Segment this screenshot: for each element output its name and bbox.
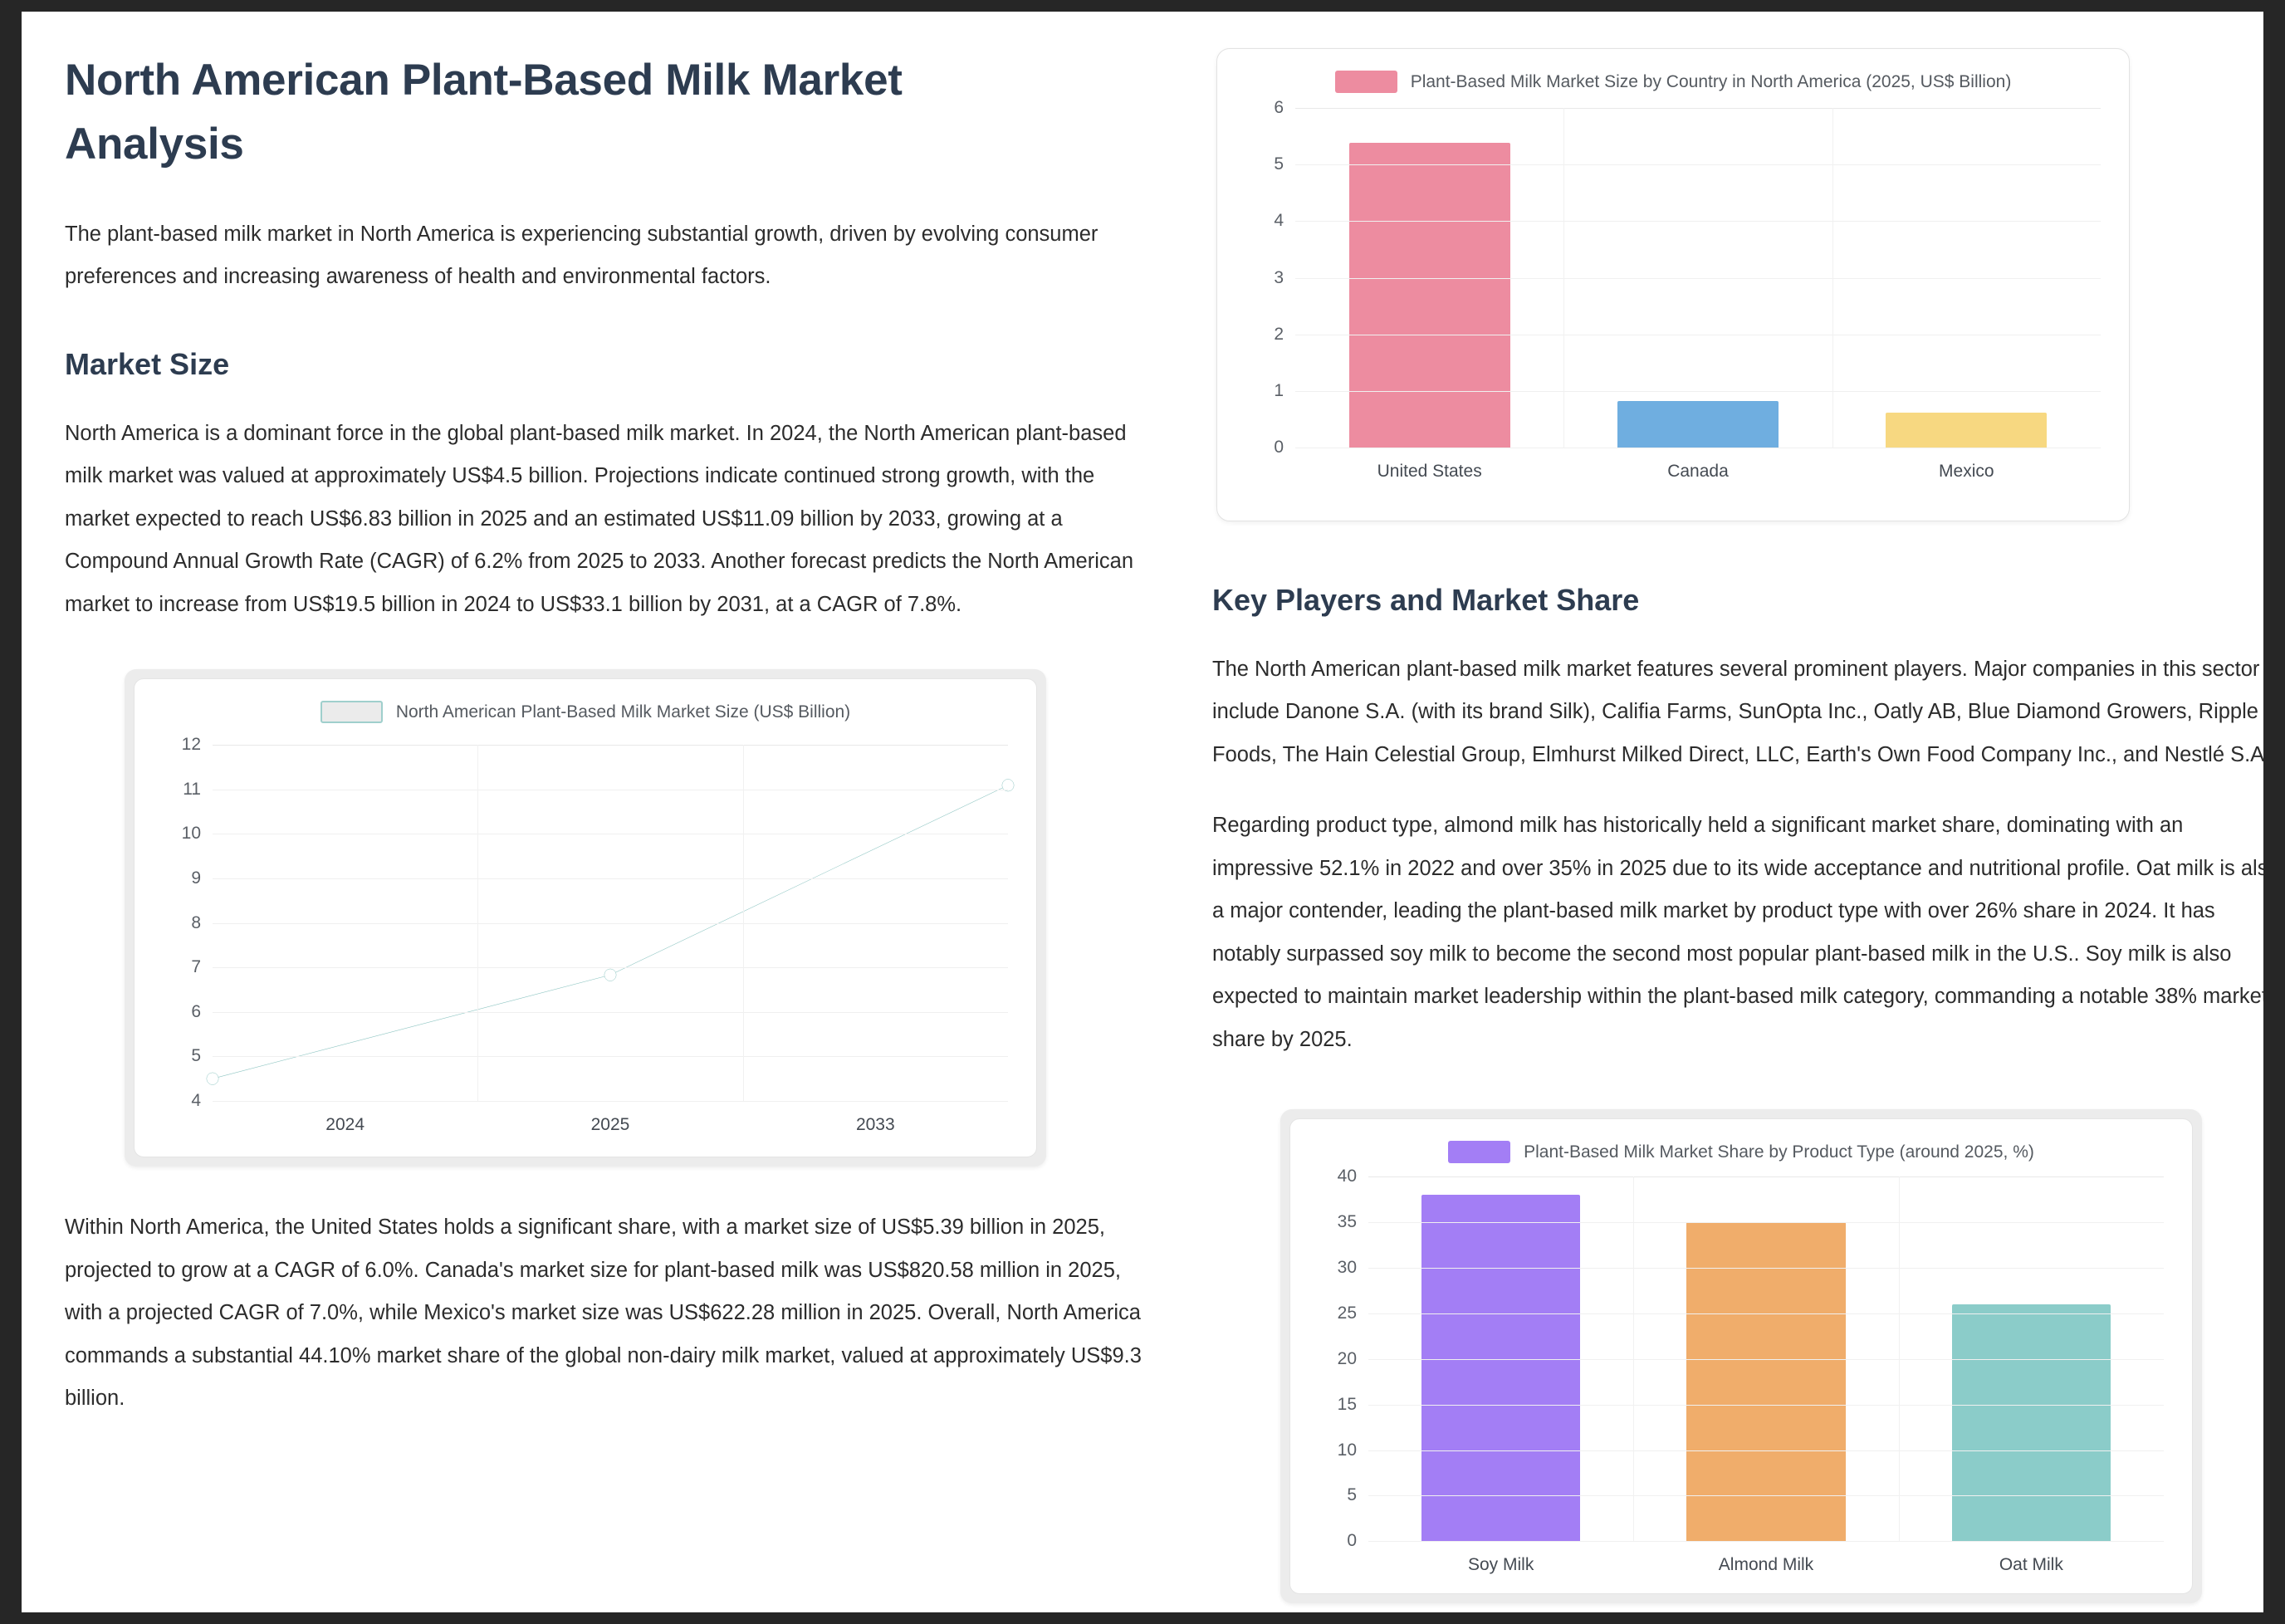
page-title: North American Plant-Based Milk Market A… [65, 48, 995, 177]
y-axis-tick-label: 4 [1274, 211, 1284, 231]
gridline [213, 1056, 1008, 1057]
product-chart-x-axis-labels: Soy MilkAlmond MilkOat Milk [1368, 1542, 2164, 1575]
category-separator [743, 745, 744, 1101]
product-chart-plot-area: 0510152025303540 [1368, 1176, 2164, 1542]
category-separator [1832, 108, 1833, 448]
document-page: North American Plant-Based Milk Market A… [22, 12, 2263, 1612]
country-bar-chart-card: Plant-Based Milk Market Size by Country … [1216, 48, 2130, 521]
y-axis-tick-label: 4 [191, 1091, 201, 1111]
section-heading-market-size: Market Size [65, 345, 1161, 384]
y-axis-tick-label: 3 [1274, 268, 1284, 288]
y-axis-tick-label: 40 [1338, 1167, 1357, 1186]
line-data-point-2025[interactable] [604, 969, 616, 981]
y-axis-tick-label: 12 [182, 735, 201, 755]
market-size-paragraph-1: North America is a dominant force in the… [65, 413, 1161, 627]
key-players-paragraph-2: Regarding product type, almond milk has … [1212, 805, 2263, 1061]
gridline [213, 967, 1008, 968]
x-axis-tick-label: 2025 [477, 1115, 742, 1135]
gridline [1368, 1268, 2164, 1269]
x-axis-tick-label: United States [1295, 462, 1563, 482]
country-chart-legend-swatch [1335, 71, 1397, 93]
bar-united-states[interactable] [1349, 143, 1510, 448]
y-axis-tick-label: 20 [1338, 1349, 1357, 1369]
gridline [213, 834, 1008, 834]
gridline [1295, 335, 2101, 335]
y-axis-tick-label: 0 [1274, 438, 1284, 457]
bar-oat-milk[interactable] [1952, 1304, 2111, 1541]
two-column-layout: North American Plant-Based Milk Market A… [22, 12, 2263, 1612]
product-type-chart-frame: Plant-Based Milk Market Share by Product… [1280, 1109, 2202, 1603]
x-axis-tick-label: 2024 [213, 1115, 477, 1135]
market-size-line-chart-card: North American Plant-Based Milk Market S… [134, 678, 1037, 1157]
product-chart-legend-label: Plant-Based Milk Market Share by Product… [1524, 1142, 2034, 1162]
product-chart-legend: Plant-Based Milk Market Share by Product… [1290, 1119, 2192, 1163]
bar-soy-milk[interactable] [1421, 1195, 1581, 1541]
line-chart-legend-label: North American Plant-Based Milk Market S… [396, 702, 850, 722]
x-axis-tick-label: Soy Milk [1368, 1555, 1633, 1575]
y-axis-tick-label: 2 [1274, 325, 1284, 345]
bar-almond-milk[interactable] [1686, 1222, 1846, 1541]
gridline [213, 1012, 1008, 1013]
x-axis-tick-label: Canada [1563, 462, 1832, 482]
y-axis-tick-label: 15 [1338, 1395, 1357, 1415]
country-chart-legend-label: Plant-Based Milk Market Size by Country … [1411, 72, 2012, 92]
gridline [213, 1101, 1008, 1102]
gridline [1368, 1541, 2164, 1542]
y-axis-tick-label: 7 [191, 957, 201, 977]
x-axis-tick-label: Almond Milk [1633, 1555, 1898, 1575]
y-axis-tick-label: 6 [191, 1002, 201, 1022]
gridline [1368, 1495, 2164, 1496]
gridline [213, 878, 1008, 879]
gridline [213, 923, 1008, 924]
y-axis-tick-label: 30 [1338, 1258, 1357, 1278]
y-axis-tick-label: 5 [191, 1046, 201, 1066]
product-chart-legend-swatch [1448, 1141, 1510, 1163]
key-players-paragraph-1: The North American plant-based milk mark… [1212, 648, 2263, 777]
y-axis-tick-label: 35 [1338, 1212, 1357, 1232]
line-series-path [213, 785, 1008, 1079]
section-heading-key-players: Key Players and Market Share [1212, 581, 2263, 620]
x-axis-tick-label: Oat Milk [1899, 1555, 2164, 1575]
country-chart-plot-area: 0123456 [1295, 108, 2101, 448]
category-separator [1899, 1176, 1900, 1541]
y-axis-tick-label: 5 [1347, 1485, 1357, 1505]
line-data-point-2024[interactable] [207, 1073, 218, 1085]
product-chart-plot-wrap: 0510152025303540 Soy MilkAlmond MilkOat … [1319, 1176, 2164, 1575]
y-axis-tick-label: 25 [1338, 1304, 1357, 1323]
gridline [1368, 1176, 2164, 1177]
x-axis-tick-label: 2033 [743, 1115, 1008, 1135]
line-chart-legend-swatch [320, 701, 383, 723]
category-separator [1563, 108, 1564, 448]
y-axis-tick-label: 10 [182, 824, 201, 844]
category-separator [1633, 1176, 1634, 1541]
left-column: North American Plant-Based Milk Market A… [65, 48, 1161, 1612]
gridline [1295, 164, 2101, 165]
product-type-chart-card: Plant-Based Milk Market Share by Product… [1289, 1118, 2193, 1594]
y-axis-tick-label: 6 [1274, 98, 1284, 118]
x-axis-tick-label: Mexico [1832, 462, 2101, 482]
line-chart-plot-area: 456789101112 [213, 745, 1008, 1102]
y-axis-tick-label: 9 [191, 868, 201, 888]
y-axis-tick-label: 5 [1274, 154, 1284, 174]
gridline [1295, 221, 2101, 222]
gridline [213, 745, 1008, 746]
gridline [1295, 448, 2101, 448]
category-separator [477, 745, 478, 1101]
gridline [1295, 278, 2101, 279]
y-axis-tick-label: 11 [183, 780, 201, 800]
gridline [1295, 391, 2101, 392]
y-axis-tick-label: 8 [191, 913, 201, 933]
y-axis-tick-label: 1 [1274, 381, 1284, 401]
y-axis-tick-label: 10 [1338, 1441, 1357, 1460]
market-size-paragraph-2: Within North America, the United States … [65, 1206, 1161, 1421]
line-chart-legend: North American Plant-Based Milk Market S… [135, 679, 1036, 723]
country-chart-plot-wrap: 0123456 United StatesCanadaMexico [1245, 108, 2101, 482]
gridline [213, 790, 1008, 790]
country-chart-legend: Plant-Based Milk Market Size by Country … [1217, 49, 2129, 93]
gridline [1368, 1222, 2164, 1223]
bar-canada[interactable] [1617, 401, 1779, 448]
right-column: Plant-Based Milk Market Size by Country … [1212, 48, 2263, 1612]
gridline [1368, 1405, 2164, 1406]
gridline [1368, 1359, 2164, 1360]
line-chart-plot-wrap: 456789101112 202420252033 [163, 745, 1008, 1135]
bar-mexico[interactable] [1886, 413, 2047, 448]
market-size-line-chart-frame: North American Plant-Based Milk Market S… [125, 669, 1046, 1167]
gridline [1295, 108, 2101, 109]
y-axis-tick-label: 0 [1347, 1531, 1357, 1551]
gridline [1368, 1313, 2164, 1314]
gridline [1368, 1450, 2164, 1451]
country-chart-x-axis-labels: United StatesCanadaMexico [1295, 448, 2101, 482]
line-chart-x-axis-labels: 202420252033 [213, 1102, 1008, 1135]
intro-paragraph: The plant-based milk market in North Ame… [65, 213, 1161, 299]
